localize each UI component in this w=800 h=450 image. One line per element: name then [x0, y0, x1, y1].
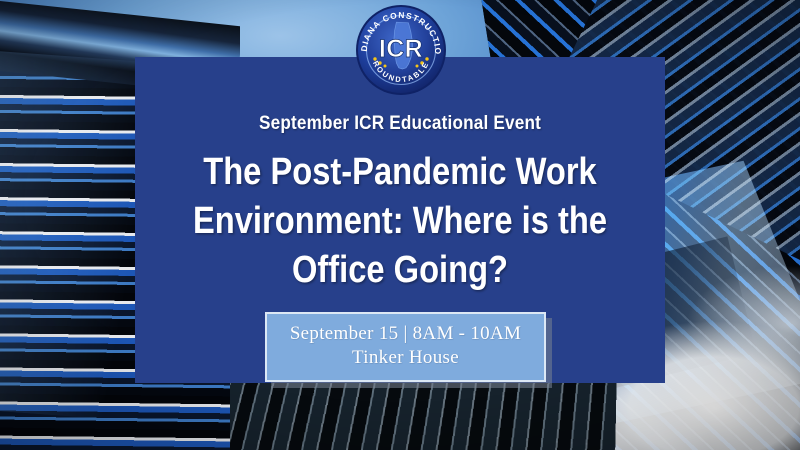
event-poster: ICR INDIANA CONSTRUCTION ROUNDTABLE Sept…: [0, 0, 800, 450]
page-title: The Post-Pandemic Work Environment: Wher…: [20, 148, 780, 295]
icr-logo: ICR INDIANA CONSTRUCTION ROUNDTABLE: [355, 4, 447, 96]
headline-line-1: The Post-Pandemic Work: [73, 148, 727, 197]
event-kicker: September ICR Educational Event: [48, 112, 752, 135]
headline-line-3: Office Going?: [73, 246, 727, 295]
headline-line-2: Environment: Where is the: [73, 197, 727, 246]
svg-text:ICR: ICR: [379, 35, 423, 63]
event-datetime: September 15 | 8AM - 10AM: [277, 322, 534, 346]
event-details-box: September 15 | 8AM - 10AM Tinker House: [265, 312, 546, 382]
event-venue: Tinker House: [277, 346, 534, 370]
